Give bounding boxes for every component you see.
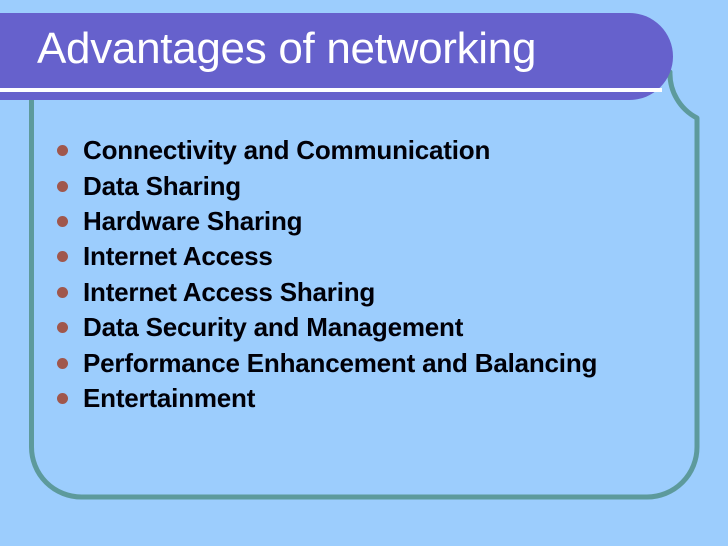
list-item-label: Data Security and Management (83, 312, 463, 343)
list-item-label: Internet Access (83, 241, 273, 272)
list-item: Connectivity and Communication (52, 133, 702, 168)
list-item: Hardware Sharing (52, 204, 702, 239)
filled-circle-bullet-icon (57, 287, 68, 298)
filled-circle-bullet-icon (57, 393, 68, 404)
filled-circle-bullet-icon (57, 181, 68, 192)
advantages-bullet-list: Connectivity and Communication Data Shar… (52, 133, 702, 416)
list-item-label: Internet Access Sharing (83, 277, 375, 308)
page-title: Advantages of networking (37, 13, 657, 85)
list-item-label: Data Sharing (83, 171, 241, 202)
list-item-label: Performance Enhancement and Balancing (83, 348, 597, 379)
list-item-label: Connectivity and Communication (83, 135, 490, 166)
filled-circle-bullet-icon (57, 145, 68, 156)
title-divider-rule (0, 88, 662, 92)
filled-circle-bullet-icon (57, 358, 68, 369)
list-item-label: Entertainment (83, 383, 255, 414)
list-item: Internet Access (52, 239, 702, 274)
list-item: Entertainment (52, 381, 702, 416)
filled-circle-bullet-icon (57, 216, 68, 227)
list-item: Performance Enhancement and Balancing (52, 345, 702, 380)
filled-circle-bullet-icon (57, 322, 68, 333)
list-item-label: Hardware Sharing (83, 206, 302, 237)
list-item: Data Security and Management (52, 310, 702, 345)
slide-canvas: Advantages of networking Connectivity an… (0, 0, 728, 546)
filled-circle-bullet-icon (57, 251, 68, 262)
list-item: Internet Access Sharing (52, 275, 702, 310)
list-item: Data Sharing (52, 168, 702, 203)
